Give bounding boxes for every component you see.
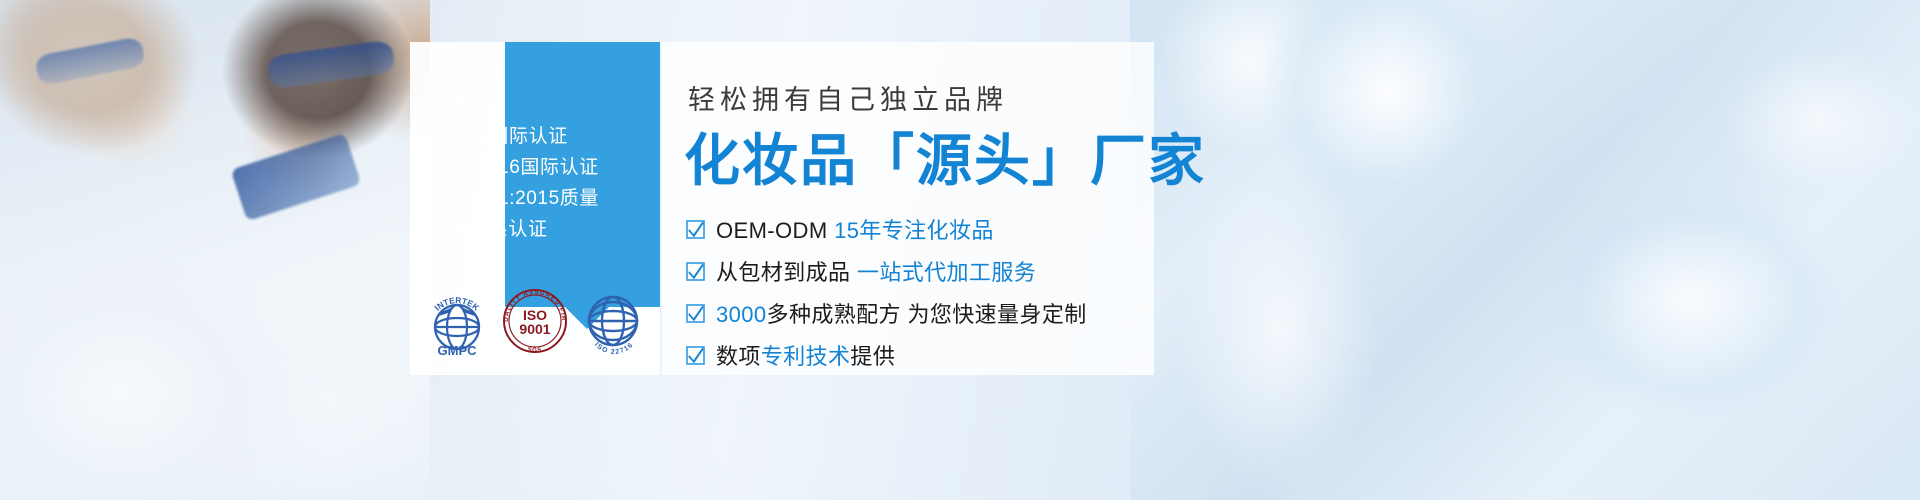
checkbox-checked-icon (686, 346, 705, 365)
svg-text:ISO 22716: ISO 22716 (593, 341, 635, 356)
feature-list: OEM-ODM 15年专注化妆品 从包材到成品 一站式代加工服务 (686, 210, 1156, 378)
checkbox-checked-icon (686, 262, 705, 281)
feature-text-plain: 多种成熟配方 为您快速量身定制 (767, 302, 1087, 327)
feature-list-item: 数项专利技术提供 (686, 336, 1156, 374)
feature-text-plain: 数项 (716, 344, 761, 369)
certification-line-0: 已通过 (430, 90, 650, 121)
certification-card: 已通过 GMPC国际认证 ISO22716国际认证 ISO9001:2015质量… (410, 42, 660, 375)
svg-text:9001: 9001 (519, 321, 550, 337)
feature-list-item: 从包材到成品 一站式代加工服务 (686, 252, 1156, 290)
main-content-panel: 轻松拥有自己独立品牌 化妆品「源头」厂家 OEM-ODM 15年专注化妆品 (662, 42, 1154, 375)
certification-line-2: ISO22716国际认证 (430, 152, 650, 183)
intertek-arc-text: INTERTEK (432, 295, 482, 313)
feature-text-plain: OEM-ODM (716, 218, 834, 243)
feature-text-highlight: 3000 (716, 302, 767, 327)
feature-text-plain: 从包材到成品 (716, 260, 857, 285)
feature-text-highlight: 一站式代加工服务 (857, 260, 1036, 285)
feature-text-highlight: 15年专注化妆品 (834, 218, 994, 243)
sgs-iso9001-logo: QUALITY ASSURED FIRM SGS ISO 9001 (499, 283, 571, 359)
panel-subtitle: 轻松拥有自己独立品牌 (688, 78, 1008, 117)
intertek-gmpc-logo: INTERTEK GMPC (421, 283, 493, 359)
feature-text-plain: 提供 (850, 344, 895, 369)
feature-list-item: OEM-ODM 15年专注化妆品 (686, 210, 1156, 248)
feature-text: OEM-ODM 15年专注化妆品 (716, 213, 994, 245)
iso22716-arc-text: ISO 22716 (593, 341, 635, 356)
certification-line-4: 管理体系认证 (430, 214, 650, 245)
promotional-banner: 已通过 GMPC国际认证 ISO22716国际认证 ISO9001:2015质量… (0, 0, 1920, 500)
feature-text: 数项专利技术提供 (716, 339, 895, 371)
panel-title: 化妆品「源头」厂家 (684, 130, 1206, 192)
certification-line-3: ISO9001:2015质量 (430, 183, 650, 214)
checkbox-checked-icon (686, 220, 705, 239)
certification-line-1: GMPC国际认证 (430, 121, 650, 152)
checkbox-checked-icon (686, 304, 705, 323)
feature-list-item: 3000多种成熟配方 为您快速量身定制 (686, 294, 1156, 332)
svg-text:SGS: SGS (527, 347, 543, 354)
feature-text: 从包材到成品 一站式代加工服务 (716, 255, 1036, 287)
certification-logos: INTERTEK GMPC QUALITY ASSURED FIRM (418, 273, 652, 359)
gmpc-logo-text: GMPC (438, 343, 478, 358)
iso22716-globe-logo: ISO 22716 (577, 283, 649, 359)
svg-text:INTERTEK: INTERTEK (432, 295, 482, 313)
feature-text-highlight: 专利技术 (761, 344, 851, 369)
feature-text: 3000多种成熟配方 为您快速量身定制 (716, 297, 1087, 329)
certification-text-list: 已通过 GMPC国际认证 ISO22716国际认证 ISO9001:2015质量… (430, 90, 650, 245)
